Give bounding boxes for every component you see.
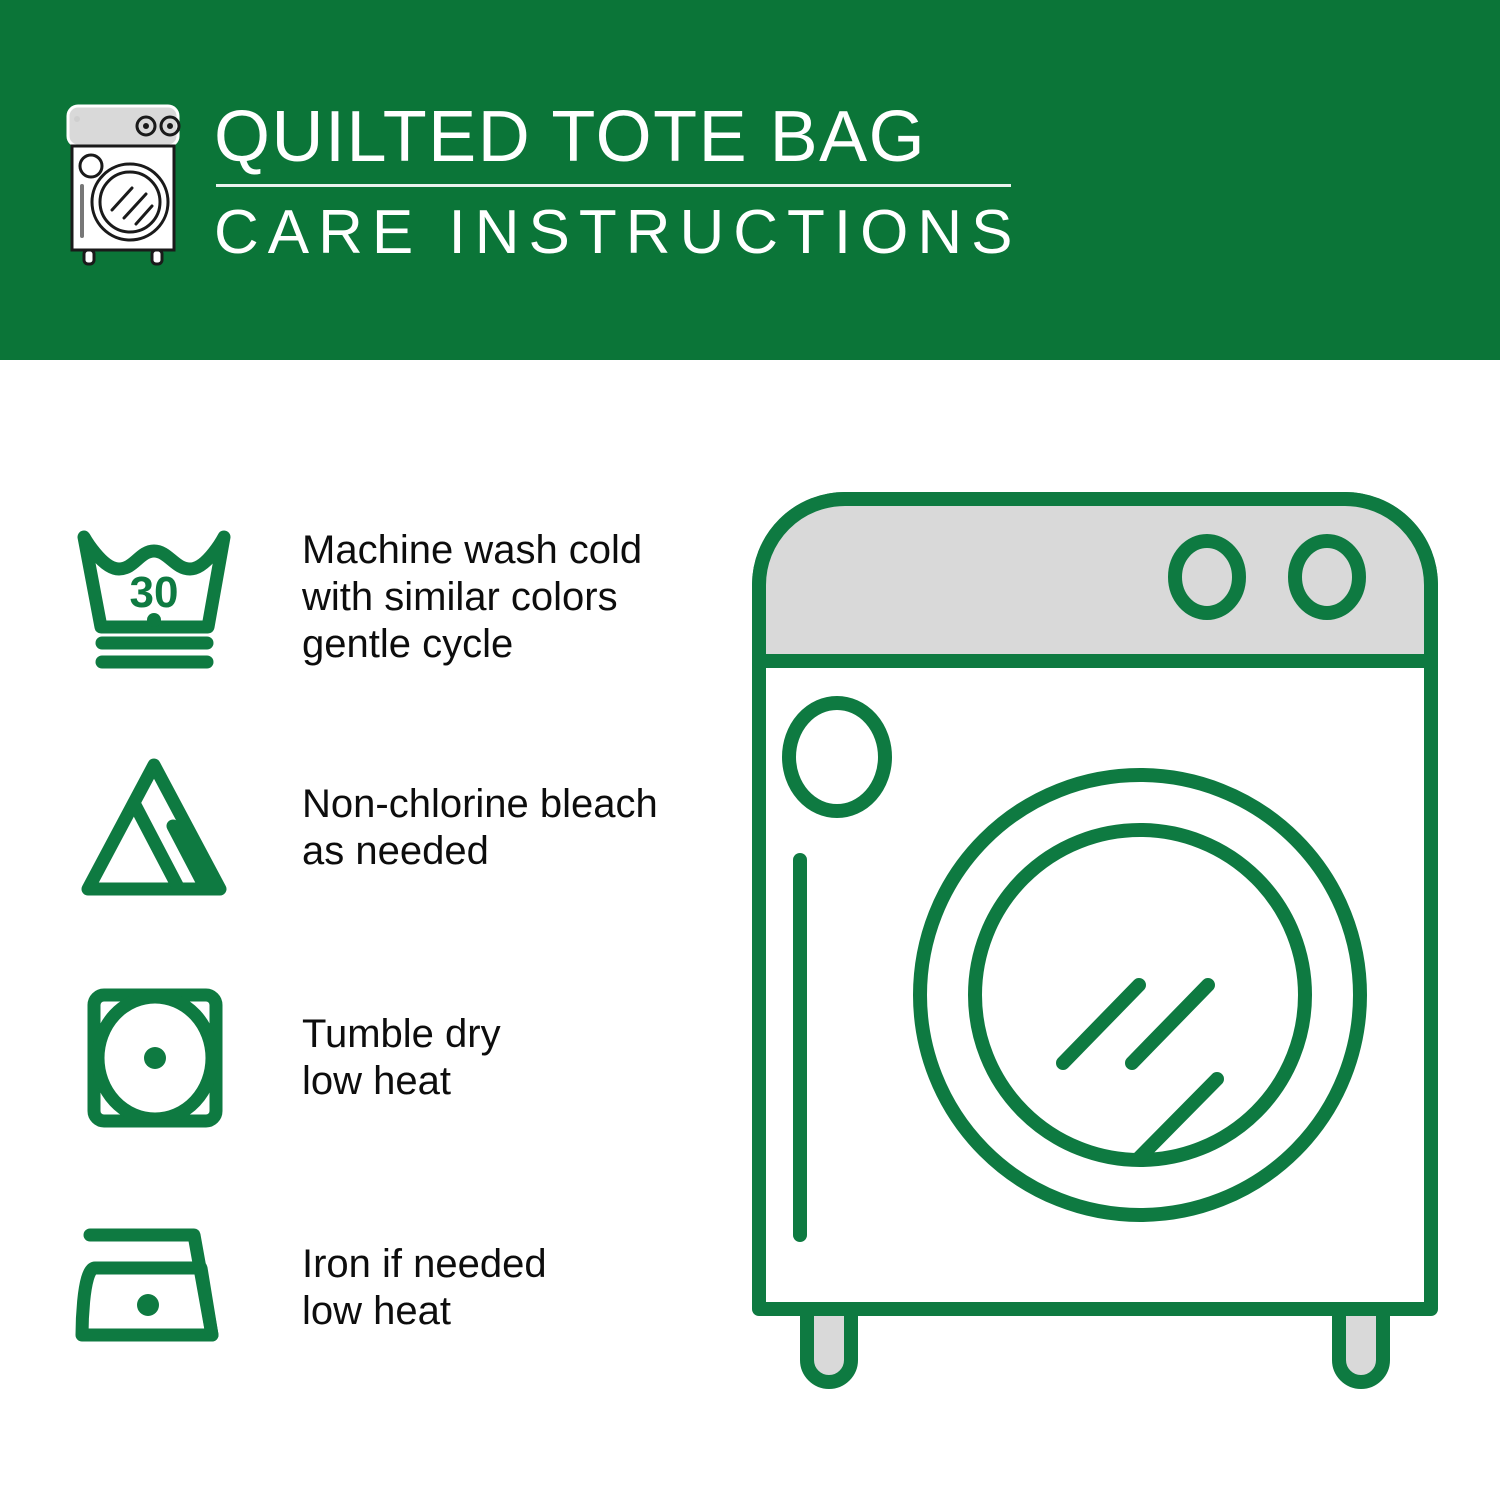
non-chlorine-bleach-icon: [72, 753, 237, 903]
care-instructions-page: QUILTED TOTE BAG CARE INSTRUCTIONS: [0, 0, 1500, 1500]
list-item-label: Iron if needed low heat: [302, 1241, 547, 1335]
content-area: 30 Machine wash cold with similar colors…: [0, 360, 1500, 1500]
list-item: 30 Machine wash cold with similar colors…: [72, 510, 712, 685]
list-item: Tumble dry low heat: [72, 970, 712, 1145]
washing-machine-illustration: [745, 485, 1445, 1415]
header-content: QUILTED TOTE BAG CARE INSTRUCTIONS: [60, 96, 1014, 269]
header-banner: QUILTED TOTE BAG CARE INSTRUCTIONS: [0, 0, 1500, 360]
washing-machine-icon: [60, 102, 190, 267]
title-divider: [216, 184, 1011, 187]
list-item: Non-chlorine bleach as needed: [72, 740, 712, 915]
iron-low-heat-icon: [72, 1213, 237, 1363]
list-item-label: Tumble dry low heat: [302, 1011, 501, 1105]
header-titles: QUILTED TOTE BAG CARE INSTRUCTIONS: [214, 96, 1014, 269]
page-title: QUILTED TOTE BAG: [214, 96, 1014, 178]
wash-temperature-value: 30: [130, 568, 179, 617]
list-item-label: Non-chlorine bleach as needed: [302, 781, 658, 875]
care-instruction-list: 30 Machine wash cold with similar colors…: [72, 510, 712, 1375]
list-item-label: Machine wash cold with similar colors ge…: [302, 527, 642, 668]
list-item: Iron if needed low heat: [72, 1200, 712, 1375]
tumble-dry-low-icon: [72, 983, 237, 1133]
machine-wash-30-gentle-icon: 30: [72, 523, 237, 673]
page-subtitle: CARE INSTRUCTIONS: [214, 197, 1014, 269]
